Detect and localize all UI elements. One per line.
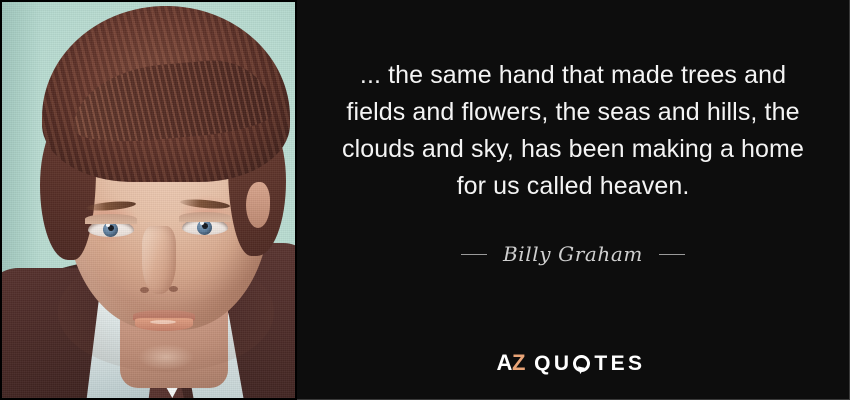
az-quotes-logo[interactable]: AZ QUTES bbox=[297, 352, 849, 374]
logo-letter-a: A bbox=[497, 350, 513, 375]
logo-quotes-prefix: QU bbox=[534, 353, 572, 374]
portrait-panel bbox=[0, 0, 297, 400]
logo-letter-z: Z bbox=[512, 350, 525, 375]
logo-quotes-wordmark: QUTES bbox=[534, 353, 645, 374]
attribution-dash-left bbox=[461, 254, 487, 255]
author-name: Billy Graham bbox=[503, 242, 643, 266]
photo-film-grain bbox=[2, 2, 295, 398]
quote-card: ... the same hand that made trees and fi… bbox=[0, 0, 850, 400]
speech-bubble-icon bbox=[573, 355, 590, 372]
attribution: Billy Graham bbox=[461, 242, 685, 266]
logo-quotes-suffix: TES bbox=[594, 353, 645, 374]
quote-text: ... the same hand that made trees and fi… bbox=[338, 57, 808, 205]
portrait-photo bbox=[2, 2, 295, 398]
attribution-dash-right bbox=[659, 254, 685, 255]
logo-az-wordmark: AZ bbox=[497, 352, 526, 374]
quote-panel: ... the same hand that made trees and fi… bbox=[297, 0, 849, 399]
